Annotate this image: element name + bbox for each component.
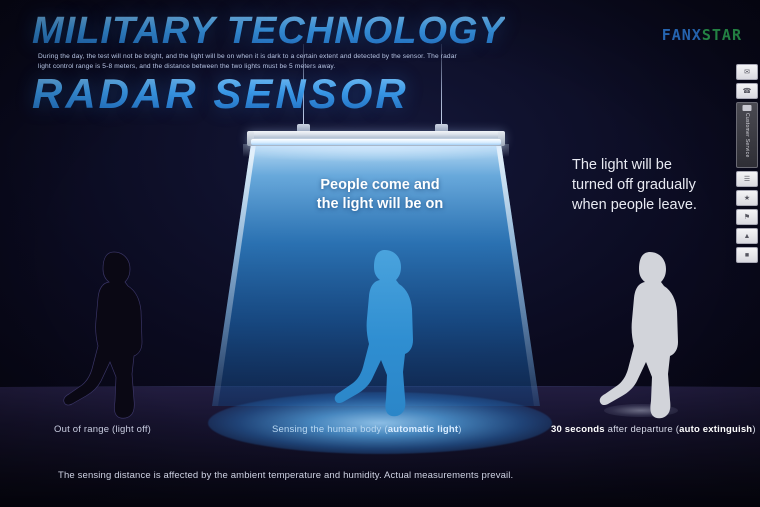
lamp-tube [251, 139, 501, 145]
toolbar-button-4[interactable]: ★ [736, 190, 758, 206]
headset-icon [743, 105, 752, 111]
menu-icon: ☰ [744, 175, 750, 183]
caption-sensing: Sensing the human body (automatic light) [272, 424, 462, 435]
led-batten-fixture [247, 131, 505, 146]
page-title-line1: MILITARY TECHNOLOGY [32, 10, 505, 53]
right-note-line1: The light will be [572, 155, 752, 175]
header-description: During the day, the test will not be bri… [38, 52, 458, 72]
toolbar-button-3[interactable]: ☰ [736, 171, 758, 187]
figure-silhouette-dark [62, 250, 158, 422]
cone-caption-line1: People come and [260, 176, 500, 195]
footer-disclaimer: The sensing distance is affected by the … [58, 470, 513, 481]
phone-icon: ☎ [743, 87, 752, 95]
star-icon: ★ [744, 194, 750, 202]
envelope-icon: ✉ [744, 68, 750, 76]
infographic-canvas: MILITARY TECHNOLOGY During the day, the … [0, 0, 760, 507]
customer-service-tab[interactable]: Customer Service [736, 102, 758, 168]
caption-sensing-text: Sensing the human body ( [272, 424, 388, 435]
toolbar-button-1[interactable]: ✉ [736, 64, 758, 80]
caption-departure-emphasis: auto extinguish [679, 424, 752, 435]
caption-sensing-emphasis: automatic light [388, 424, 459, 435]
brand-logo-part1: FANX [662, 26, 702, 44]
page-title-line2: RADAR SENSOR [32, 70, 409, 118]
caption-departure-tail: ) [752, 424, 755, 435]
cone-caption-line2: the light will be on [260, 195, 500, 214]
brand-logo-part2: STAR [702, 26, 742, 44]
scroll-up-icon: ▲ [744, 233, 751, 240]
cone-caption: People come and the light will be on [260, 176, 500, 214]
square-icon: ■ [745, 252, 749, 259]
caption-departure-duration: 30 seconds [551, 424, 605, 435]
figure-silhouette-lit [333, 248, 429, 422]
right-note: The light will be turned off gradually w… [572, 155, 752, 215]
right-note-line3: when people leave. [572, 195, 752, 215]
figure-silhouette-gray [598, 250, 694, 422]
right-note-line2: turned off gradually [572, 175, 752, 195]
caption-sensing-tail: ) [458, 424, 461, 435]
toolbar-button-2[interactable]: ☎ [736, 83, 758, 99]
caption-out-of-range: Out of range (light off) [54, 424, 151, 435]
caption-departure-text: after departure ( [605, 424, 679, 435]
toolbar-button-7[interactable]: ■ [736, 247, 758, 263]
flag-icon: ⚑ [744, 213, 750, 221]
toolbar-button-6[interactable]: ▲ [736, 228, 758, 244]
toolbar-button-5[interactable]: ⚑ [736, 209, 758, 225]
floating-side-toolbar[interactable]: ✉ ☎ Customer Service ☰ ★ ⚑ ▲ ■ [736, 64, 758, 263]
brand-logo: FANXSTAR [662, 26, 742, 44]
customer-service-label: Customer Service [744, 113, 750, 158]
caption-after-departure: 30 seconds after departure (auto extingu… [551, 424, 756, 435]
